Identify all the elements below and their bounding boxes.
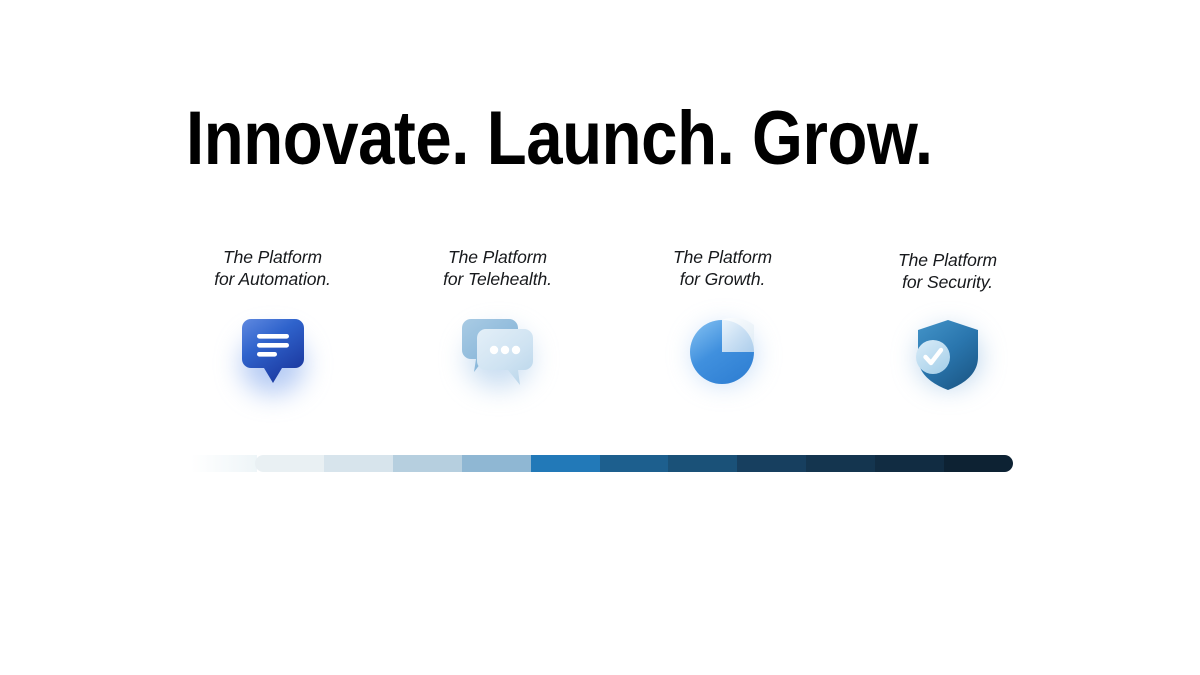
feature-item-security: The Platform for Security. — [835, 246, 1060, 416]
scale-bar-segment — [324, 455, 393, 472]
page-title: Innovate. Launch. Grow. — [186, 97, 926, 181]
scale-bar-segment — [393, 455, 462, 472]
feature-item-automation: The Platform for Automation. — [160, 246, 385, 416]
color-scale-bar — [255, 455, 1013, 472]
icon-container-growth — [675, 304, 771, 400]
scale-bar-segment — [255, 455, 324, 472]
feature-caption-automation: The Platform for Automation. — [214, 246, 331, 290]
scale-bar-segment — [668, 455, 737, 472]
feature-caption-security: The Platform for Security. — [898, 246, 997, 293]
shield-check-icon — [914, 319, 982, 391]
feature-caption-telehealth: The Platform for Telehealth. — [443, 246, 552, 290]
icon-container-telehealth — [450, 304, 546, 400]
feature-row: The Platform for Automation. The Platfor — [160, 246, 1060, 416]
scale-bar-segment — [600, 455, 669, 472]
scale-bar-segment — [531, 455, 600, 472]
scale-bar-segment — [944, 455, 1013, 472]
message-lines-icon — [242, 319, 304, 385]
scale-bar-segment — [806, 455, 875, 472]
chat-bubbles-icon — [462, 317, 534, 387]
pie-chart-icon — [690, 319, 756, 385]
scale-bar-segment — [462, 455, 531, 472]
icon-container-automation — [225, 304, 321, 400]
feature-caption-growth: The Platform for Growth. — [673, 246, 772, 290]
scale-bar-segment — [875, 455, 944, 472]
icon-container-security — [900, 307, 996, 403]
feature-item-growth: The Platform for Growth. — [610, 246, 835, 416]
feature-item-telehealth: The Platform for Telehealth. — [385, 246, 610, 416]
scale-bar-ghost-segment — [191, 455, 257, 472]
scale-bar-segment — [737, 455, 806, 472]
